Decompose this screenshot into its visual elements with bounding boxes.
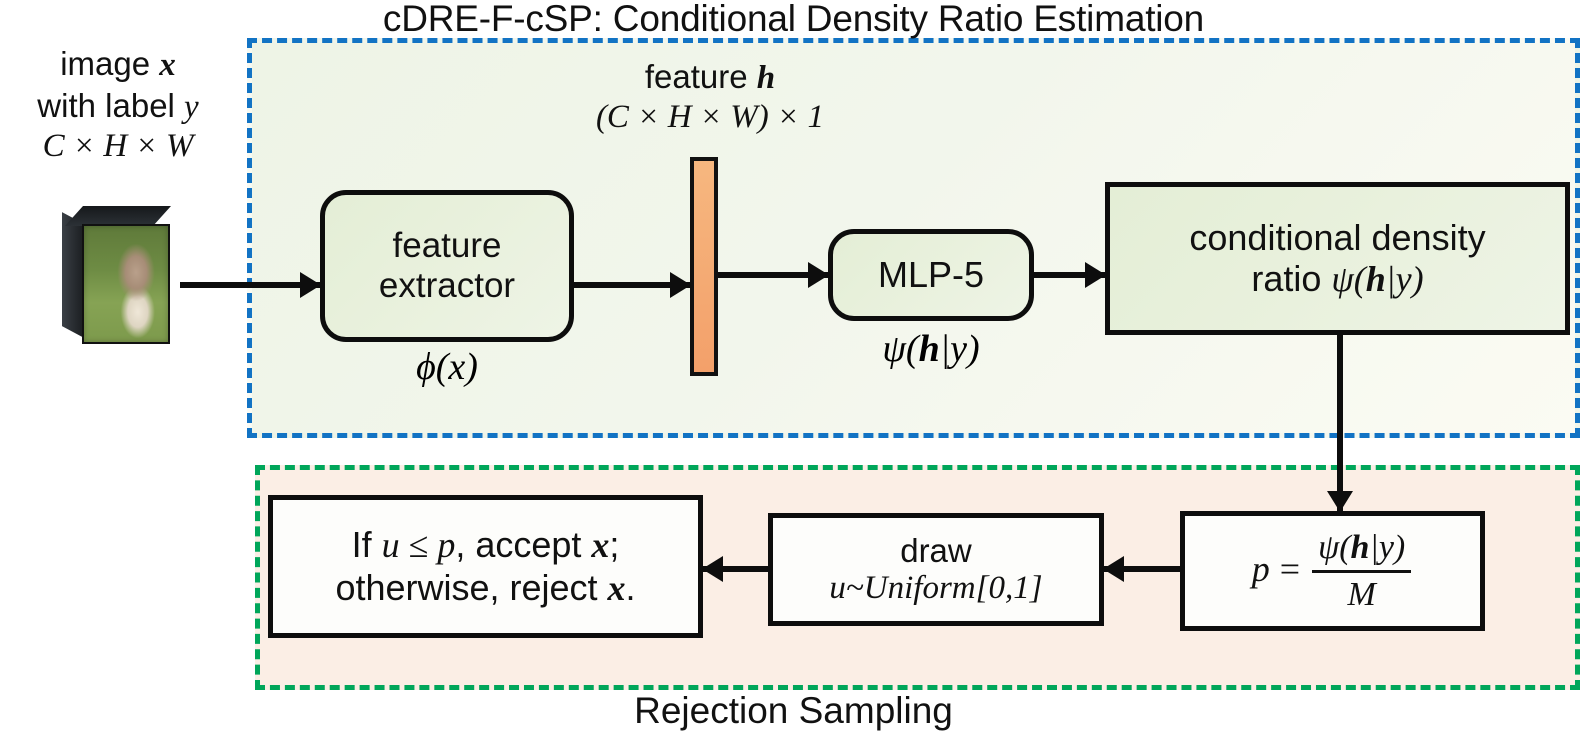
rejection-sampling-caption: Rejection Sampling bbox=[0, 690, 1587, 732]
accept-mid: , accept bbox=[455, 524, 591, 565]
psi-arg-h: h bbox=[919, 328, 940, 370]
input-dims: C × H × W bbox=[43, 128, 194, 164]
node-mlp-5[interactable]: MLP-5 bbox=[828, 229, 1034, 321]
input-line1: image bbox=[60, 45, 159, 82]
p-denominator: M bbox=[1348, 576, 1376, 613]
accept-pre: If bbox=[352, 524, 382, 565]
input-symbol-y: y bbox=[184, 89, 199, 125]
thumbnail-side-face bbox=[62, 212, 84, 338]
accept-x: x bbox=[591, 525, 609, 565]
reject-pre: otherwise, reject bbox=[335, 567, 607, 608]
node-accept-reject[interactable]: If u ≤ p, accept x; otherwise, reject x. bbox=[268, 495, 703, 638]
feature-caption: feature h (C × H × W) × 1 bbox=[560, 58, 860, 137]
feature-symbol-h: h bbox=[757, 60, 775, 96]
thumbnail-front-face bbox=[82, 224, 170, 344]
cdr-line1: conditional density bbox=[1189, 217, 1485, 258]
cdr-line2-prefix: ratio bbox=[1251, 258, 1331, 299]
thumbnail-top-face bbox=[65, 206, 171, 226]
arrow-image-to-extractor bbox=[180, 272, 320, 298]
p-num-rest: |y) bbox=[1369, 529, 1405, 566]
arrow-extractor-to-feature bbox=[574, 272, 690, 298]
mlp-label: MLP-5 bbox=[878, 254, 984, 295]
cdr-psi-open: ψ( bbox=[1331, 259, 1365, 299]
p-fraction: ψ(h|y) M bbox=[1312, 528, 1411, 615]
accept-le: ≤ bbox=[400, 525, 438, 565]
arrow-density-ratio-to-p bbox=[1327, 335, 1353, 511]
accept-p: p bbox=[437, 525, 455, 565]
draw-line2: u~Uniform[0,1] bbox=[829, 570, 1042, 608]
p-lhs: p bbox=[1252, 549, 1270, 589]
mlp-sublabel-psi: ψ(h|y) bbox=[828, 327, 1034, 371]
psi-fn-open: ψ( bbox=[882, 328, 918, 370]
extractor-line1: feature bbox=[379, 226, 515, 266]
reject-end: . bbox=[626, 567, 636, 608]
arrow-draw-to-accept bbox=[703, 556, 768, 582]
cdr-psi-rest: |y) bbox=[1386, 259, 1424, 299]
cdr-psi-h: h bbox=[1366, 259, 1386, 299]
p-num-open: ψ( bbox=[1318, 529, 1350, 566]
arrow-mlp-to-density-ratio bbox=[1034, 262, 1105, 288]
arrow-p-to-draw bbox=[1104, 556, 1180, 582]
accept-end: ; bbox=[609, 524, 619, 565]
draw-line1: draw bbox=[829, 532, 1042, 570]
diagram-title: cDRE-F-cSP: Conditional Density Ratio Es… bbox=[0, 0, 1587, 40]
accept-u: u bbox=[382, 525, 400, 565]
extractor-sublabel-phi: ϕ(x) bbox=[320, 345, 574, 389]
input-symbol-x: x bbox=[159, 47, 176, 83]
image-thumbnail bbox=[52, 200, 192, 350]
p-equals: = bbox=[1280, 549, 1300, 589]
p-num-h: h bbox=[1351, 529, 1370, 566]
node-feature-extractor[interactable]: feature extractor bbox=[320, 190, 574, 342]
node-acceptance-probability[interactable]: p = ψ(h|y) M bbox=[1180, 511, 1485, 631]
diagram-canvas: cDRE-F-cSP: Conditional Density Ratio Es… bbox=[0, 0, 1587, 748]
arrow-feature-to-mlp bbox=[718, 262, 828, 288]
psi-fn-rest: |y) bbox=[940, 328, 980, 370]
feature-dims: (C × H × W) × 1 bbox=[596, 99, 824, 135]
feature-caption-line1: feature bbox=[645, 58, 757, 95]
node-conditional-density-ratio[interactable]: conditional density ratio ψ(h|y) bbox=[1105, 182, 1570, 335]
reject-x: x bbox=[608, 568, 626, 608]
input-line2: with label bbox=[37, 87, 184, 124]
node-draw-uniform[interactable]: draw u~Uniform[0,1] bbox=[768, 513, 1104, 626]
feature-vector-bar bbox=[690, 157, 718, 376]
extractor-line2: extractor bbox=[379, 266, 515, 306]
input-label: image x with label y C × H × W bbox=[2, 44, 234, 167]
